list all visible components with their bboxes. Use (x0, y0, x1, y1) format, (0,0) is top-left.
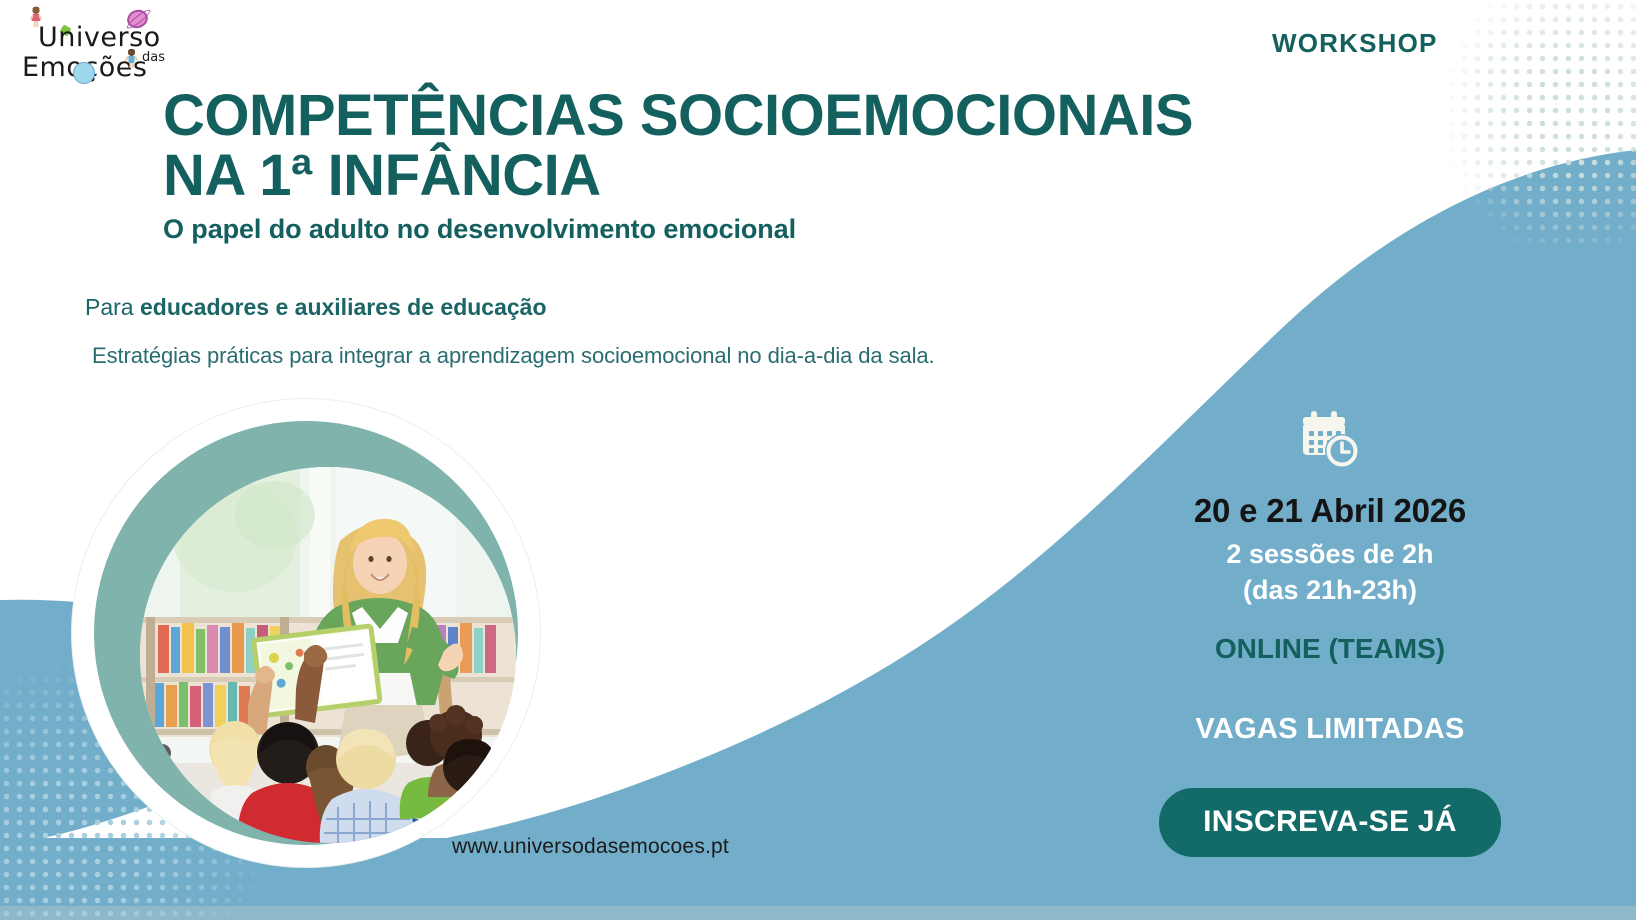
title-line-1: COMPETÊNCIAS SOCIOEMOCIONAIS (163, 83, 1193, 148)
audience-prefix: Para (85, 294, 140, 320)
page-title: COMPETÊNCIAS SOCIOEMOCIONAIS NA 1ª INFÂN… (163, 86, 1283, 207)
event-date: 20 e 21 Abril 2026 (1030, 492, 1630, 530)
photo-ring (94, 421, 518, 845)
cta-row: INSCREVA-SE JÁ (1030, 788, 1630, 857)
audience-line: Para educadores e auxiliares de educação (85, 294, 547, 321)
register-button[interactable]: INSCREVA-SE JÁ (1159, 788, 1501, 857)
workshop-badge: WORKSHOP (1272, 28, 1438, 59)
photo-frame (72, 399, 540, 867)
event-sessions: 2 sessões de 2h (das 21h-23h) (1030, 537, 1630, 608)
description-line: Estratégias práticas para integrar a apr… (92, 343, 935, 369)
workshop-poster: Universo Emoções das WORKSHOP COMPETÊNCI… (0, 0, 1636, 920)
brand-logo[interactable]: Universo Emoções das (14, 4, 194, 90)
website-url[interactable]: www.universodasemocoes.pt (452, 835, 729, 859)
audience-target: educadores e auxiliares de educação (140, 294, 547, 320)
classroom-photo (140, 467, 516, 843)
planet-blue-icon (73, 62, 95, 84)
limited-seats-notice: VAGAS LIMITADAS (1030, 713, 1630, 746)
logo-small-word: das (142, 50, 165, 65)
kid-boy-icon (124, 48, 139, 68)
classroom-photo-illustration (140, 467, 516, 843)
page-subtitle: O papel do adulto no desenvolvimento emo… (163, 214, 796, 245)
title-line-2: NA 1ª INFÂNCIA (163, 146, 1283, 206)
calendar-clock-icon (1297, 411, 1361, 469)
event-mode: ONLINE (TEAMS) (1030, 633, 1630, 665)
sessions-line-2: (das 21h-23h) (1243, 575, 1417, 605)
sessions-line-1: 2 sessões de 2h (1226, 539, 1433, 569)
logo-line-1: Universo (38, 22, 161, 53)
